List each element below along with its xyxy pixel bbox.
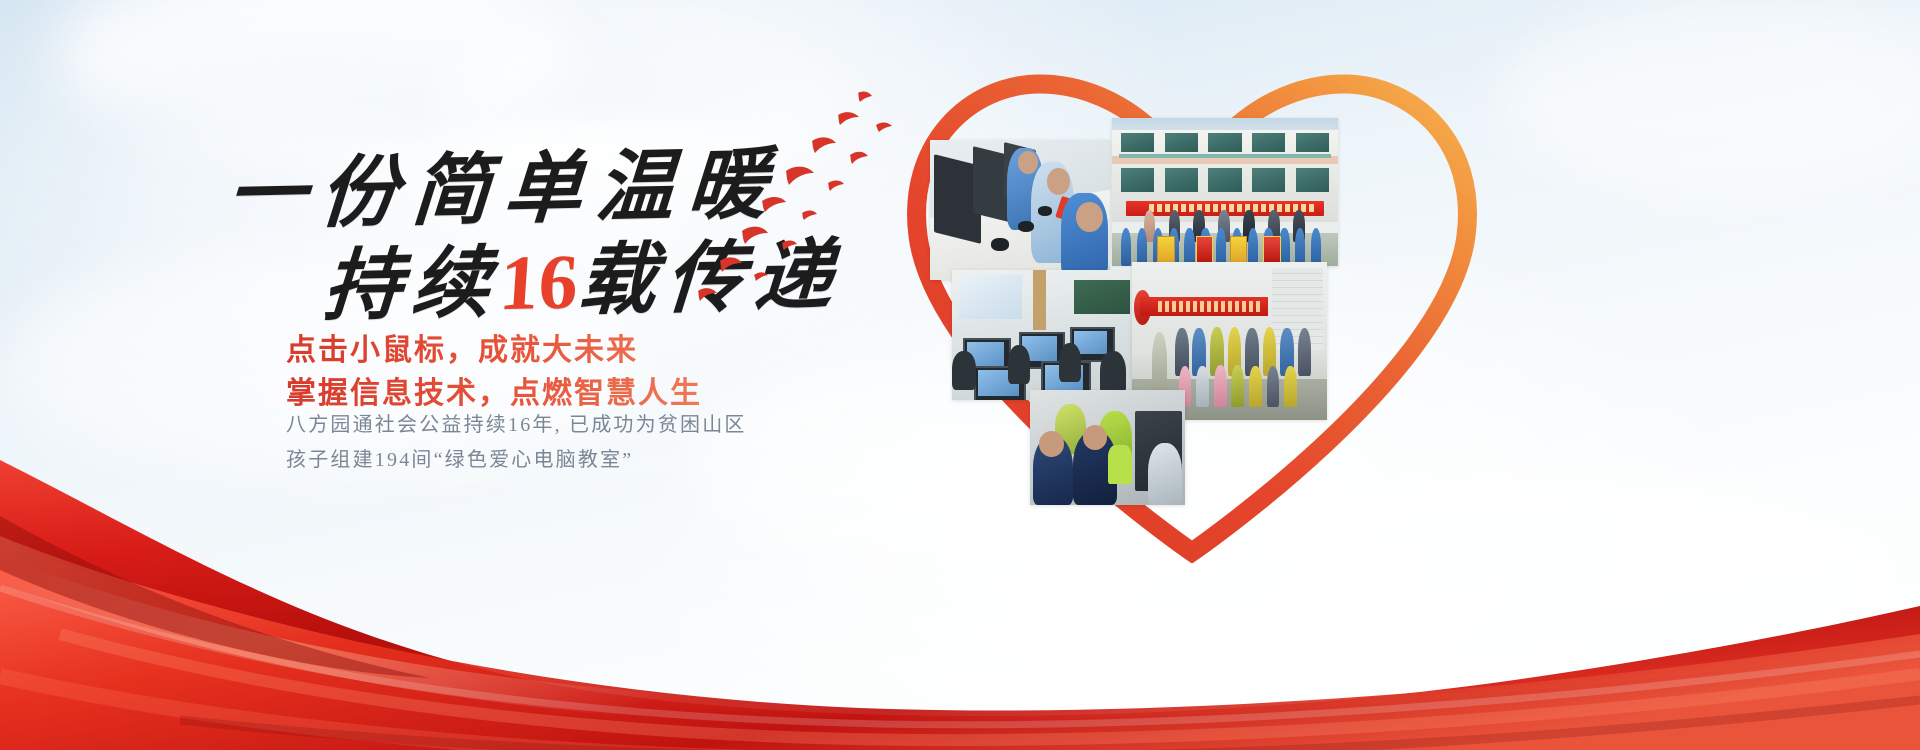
- headline-line-2-prefix: 持续: [321, 239, 503, 330]
- photo-collage: students-using-computers-in-lab: [840, 40, 1560, 580]
- photo-donation-ceremony-group: school-donation-ceremony-group-photo: [1112, 118, 1338, 266]
- cloud-wisp: [1500, 0, 1920, 200]
- photo-computer-classroom: computer-classroom-rows: [952, 270, 1137, 400]
- subtitle-line-1: 点击小鼠标，成就大未来: [286, 330, 702, 373]
- heart-photo-collage: students-using-computers-in-lab: [840, 40, 1560, 580]
- charity-hero-banner: 一份简单温暖 持续16载传递 点击小鼠标，成就大未来 掌握信息技术，点燃智慧人生…: [0, 0, 1920, 750]
- subtitle: 点击小鼠标，成就大未来 掌握信息技术，点燃智慧人生: [286, 330, 702, 415]
- headline-years-number: 16: [497, 238, 581, 327]
- description: 八方园通社会公益持续16年, 已成功为贫困山区 孩子组建194间“绿色爱心电脑教…: [286, 408, 747, 478]
- photo-children-at-computer: children-learning-at-computer: [1030, 390, 1185, 505]
- description-line-1: 八方园通社会公益持续16年, 已成功为贫困山区: [286, 408, 747, 443]
- photo-students-using-computers: students-using-computers-in-lab: [930, 140, 1110, 280]
- description-line-2: 孩子组建194间“绿色爱心电脑教室”: [286, 443, 747, 478]
